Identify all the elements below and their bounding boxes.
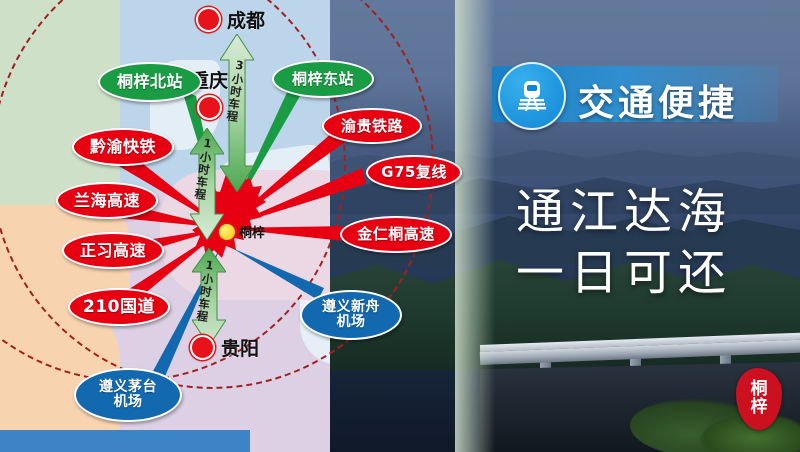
banner-title: 交通便捷 bbox=[578, 74, 738, 126]
seal-char-2: 梓 bbox=[751, 399, 768, 417]
slide-canvas: 3小时车程 1小时车程 bbox=[0, 0, 800, 452]
red-dot-icon bbox=[197, 95, 222, 120]
bubble-g210-national-road[interactable]: 210国道 bbox=[68, 288, 170, 326]
red-dot-icon bbox=[190, 335, 215, 360]
city-guiyang: 贵阳 bbox=[190, 334, 259, 361]
train-icon bbox=[498, 62, 566, 130]
tongzi-center-label: 桐梓 bbox=[239, 222, 265, 241]
bubble-zhengxi-expressway[interactable]: 正习高速 bbox=[62, 232, 164, 269]
bubble-g75-second-line[interactable]: G75复线 bbox=[366, 155, 462, 190]
bubble-zunyi-xinzhou-airport[interactable]: 遵义新舟 机场 bbox=[300, 290, 402, 340]
red-dot-icon bbox=[196, 7, 221, 32]
bubble-lanhai-expressway[interactable]: 兰海高速 bbox=[56, 182, 158, 219]
bubble-qianyu-express-rail[interactable]: 黔渝快铁 bbox=[72, 128, 174, 166]
city-label: 成都 bbox=[227, 6, 265, 33]
bubble-tongzi-north-station[interactable]: 桐梓北站 bbox=[98, 62, 202, 102]
city-chengdu: 成都 bbox=[196, 6, 265, 33]
tongzi-center-marker bbox=[217, 222, 237, 242]
bubble-tongzi-east-station[interactable]: 桐梓东站 bbox=[272, 60, 374, 98]
bubble-zunyi-maotai-airport[interactable]: 遵义茅台 机场 bbox=[74, 368, 182, 422]
city-label: 贵阳 bbox=[221, 334, 259, 361]
bubble-jinrentong-expressway[interactable]: 金仁桐高速 bbox=[340, 216, 452, 253]
slogan-block: 通江达海 一日可还 bbox=[516, 182, 784, 305]
bubble-yugui-railway[interactable]: 渝贵铁路 bbox=[322, 108, 422, 144]
slogan-line-1: 通江达海 bbox=[516, 182, 784, 243]
slogan-line-2: 一日可还 bbox=[516, 243, 784, 304]
